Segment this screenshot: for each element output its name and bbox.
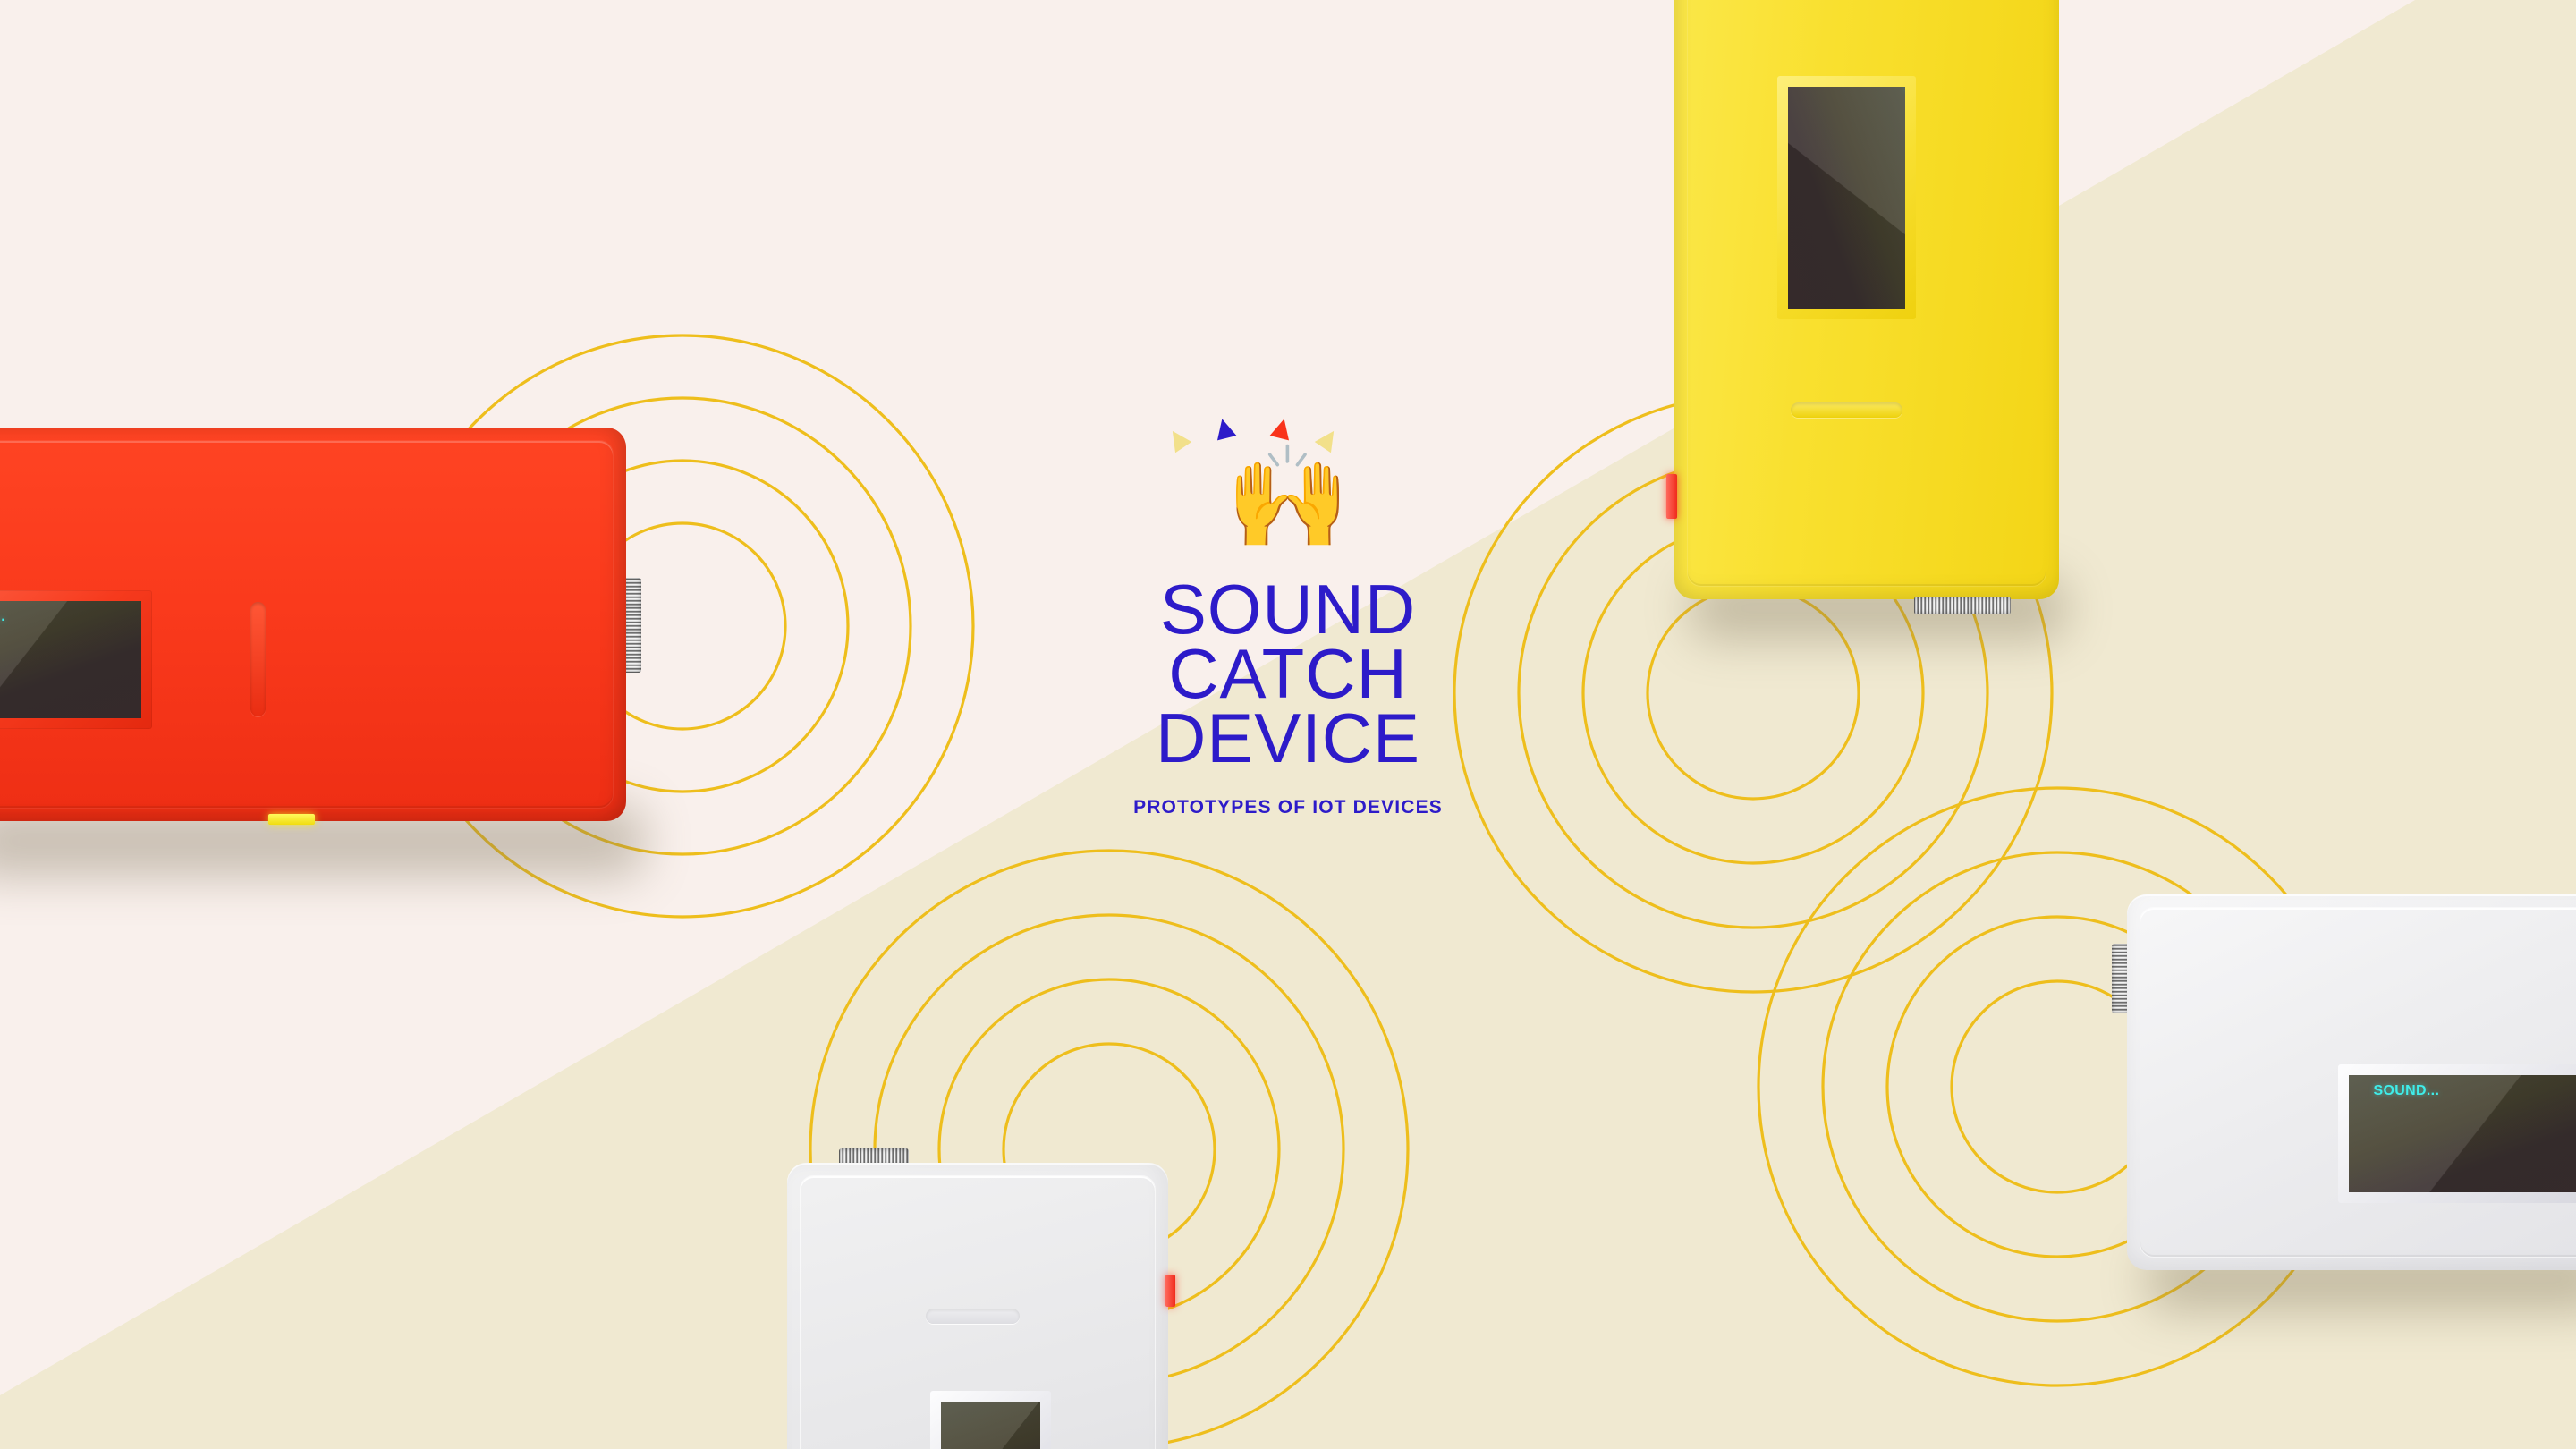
device-white-right-screen-frame: SOUND... <box>2338 1064 2576 1203</box>
device-yellow-screen-frame: SOUND... <box>1777 76 1916 319</box>
device-red-screen[interactable]: SOUND... <box>0 601 141 718</box>
device-white-bottom-screen-frame <box>930 1391 1051 1449</box>
center-lockup: 🙌 SOUND CATCH DEVICE PROTOTYPES OF IOT D… <box>1011 411 1565 818</box>
device-white-right-screen-text: SOUND... <box>2374 1083 2440 1099</box>
device-red-led-indicator <box>268 814 315 825</box>
device-yellow-vent <box>1791 402 1902 418</box>
device-red-screen-text: SOUND... <box>0 609 5 625</box>
device-white-right-screen[interactable]: SOUND... <box>2349 1075 2576 1192</box>
device-red-vent <box>250 602 266 716</box>
title-line-3: DEVICE <box>1011 707 1565 771</box>
device-white-right[interactable]: SOUND... <box>2127 894 2576 1270</box>
device-red-left[interactable]: SOUND... <box>0 428 626 821</box>
device-yellow-led-indicator <box>1666 474 1677 519</box>
device-red-screen-frame: SOUND... <box>0 590 152 729</box>
raised-hands-emoji: 🙌 <box>1011 447 1565 556</box>
device-white-bottom[interactable] <box>787 1163 1168 1449</box>
poster-canvas: SOUND... SOUND... SO <box>0 0 2576 1449</box>
page-title: SOUND CATCH DEVICE <box>1011 578 1565 770</box>
device-white-bottom-led-indicator <box>1165 1275 1175 1307</box>
title-line-1: SOUND <box>1011 578 1565 642</box>
confetti-triangle-red <box>1270 417 1294 441</box>
device-yellow-screen[interactable]: SOUND... <box>1788 87 1905 309</box>
device-yellow-screen-text: SOUND... <box>1902 87 1905 92</box>
knob-icon[interactable] <box>623 578 641 673</box>
device-yellow-top[interactable]: SOUND... <box>1674 0 2059 599</box>
confetti-triangle-blue <box>1213 417 1237 441</box>
knob-icon[interactable] <box>1914 597 2011 614</box>
device-white-bottom-screen[interactable] <box>941 1402 1040 1449</box>
device-white-bottom-vent <box>926 1309 1020 1324</box>
title-line-2: CATCH <box>1011 642 1565 707</box>
subtitle: PROTOTYPES OF IOT DEVICES <box>1011 797 1565 818</box>
confetti-group <box>1011 411 1565 447</box>
